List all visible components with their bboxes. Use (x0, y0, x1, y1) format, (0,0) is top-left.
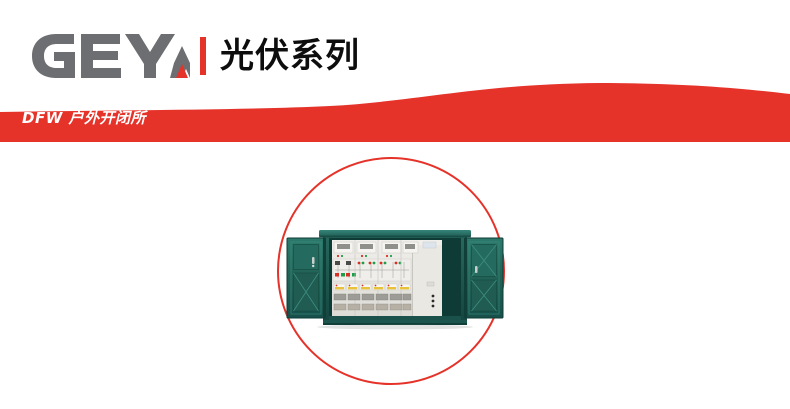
outdoor-switchgear-cabinet-icon (283, 224, 507, 334)
banner-title: DFW 户外开闭所 (22, 111, 146, 126)
product-showcase (0, 146, 790, 409)
geya-logo-icon (30, 33, 190, 79)
brand-series-title: 光伏系列 (220, 39, 360, 73)
brand-divider-icon (200, 37, 206, 75)
brand-lockup: 光伏系列 (30, 28, 360, 84)
product-banner: DFW 户外开闭所 (0, 80, 790, 146)
